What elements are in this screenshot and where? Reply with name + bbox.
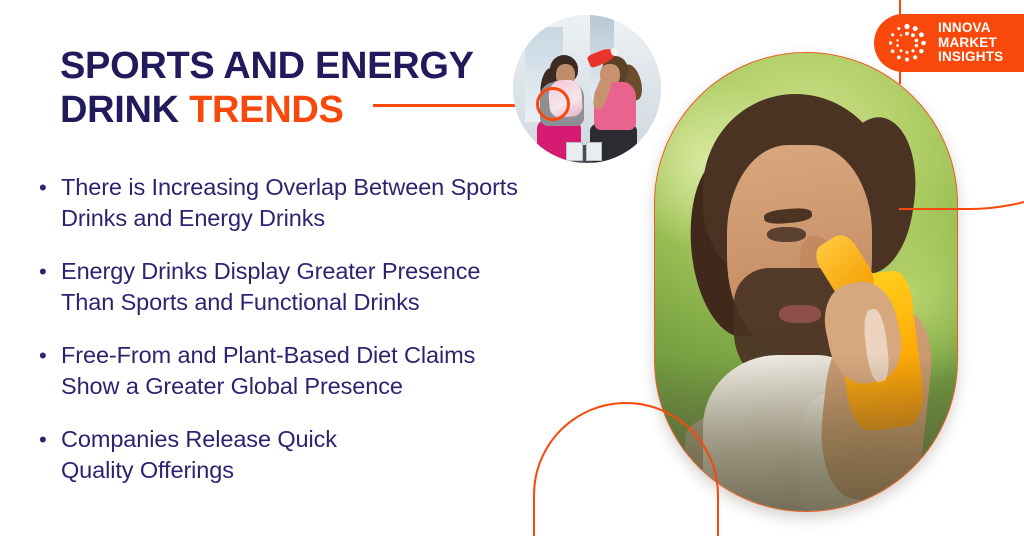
innova-dot-spiral-icon bbox=[885, 21, 929, 65]
photo-man-mouth bbox=[779, 305, 821, 323]
bullet-text-line: Than Sports and Functional Drinks bbox=[61, 287, 480, 318]
connector-highlight-ring-icon bbox=[536, 87, 570, 121]
innova-logo-text: INNOVA MARKET INSIGHTS bbox=[938, 21, 1003, 65]
bullet-text-line: There is Increasing Overlap Between Spor… bbox=[61, 172, 518, 203]
title-line-2-plain: DRINK bbox=[60, 89, 189, 131]
logo-line-3: INSIGHTS bbox=[938, 50, 1003, 65]
bullet-text-line: Show a Greater Global Presence bbox=[61, 371, 475, 402]
bullet-marker-icon: • bbox=[36, 172, 61, 203]
bullet-text-line: Drinks and Energy Drinks bbox=[61, 203, 518, 234]
bullet-text: Energy Drinks Display Greater Presence T… bbox=[61, 256, 480, 318]
logo-line-1: INNOVA bbox=[938, 21, 1003, 36]
photo-man-eye bbox=[767, 227, 806, 242]
slide-canvas: SPORTS AND ENERGY DRINK TRENDS • There i… bbox=[0, 0, 1024, 536]
photo-box-left bbox=[566, 142, 583, 160]
list-item: • Free-From and Plant-Based Diet Claims … bbox=[36, 340, 636, 402]
bullet-marker-icon: • bbox=[36, 256, 61, 287]
title-line-2: DRINK TRENDS bbox=[60, 88, 530, 132]
bullet-text-line: Energy Drinks Display Greater Presence bbox=[61, 256, 480, 287]
bullet-text-line: Companies Release Quick bbox=[61, 424, 337, 455]
logo-line-2: MARKET bbox=[938, 36, 1003, 51]
list-item: • Energy Drinks Display Greater Presence… bbox=[36, 256, 636, 318]
photo-women-gym bbox=[513, 15, 661, 163]
list-item: • There is Increasing Overlap Between Sp… bbox=[36, 172, 636, 234]
page-title: SPORTS AND ENERGY DRINK TRENDS bbox=[60, 44, 530, 132]
bullet-text-line: Quality Offerings bbox=[61, 455, 337, 486]
innova-logo[interactable]: INNOVA MARKET INSIGHTS bbox=[874, 14, 1024, 72]
photo-box-right bbox=[586, 142, 603, 160]
bullet-text: There is Increasing Overlap Between Spor… bbox=[61, 172, 518, 234]
bullet-text-line: Free-From and Plant-Based Diet Claims bbox=[61, 340, 475, 371]
bullet-text: Free-From and Plant-Based Diet Claims Sh… bbox=[61, 340, 475, 402]
bullet-text: Companies Release Quick Quality Offering… bbox=[61, 424, 337, 486]
bullet-marker-icon: • bbox=[36, 340, 61, 371]
title-accent-trends: TRENDS bbox=[189, 89, 343, 131]
title-line-1: SPORTS AND ENERGY bbox=[60, 44, 530, 88]
bullet-marker-icon: • bbox=[36, 424, 61, 455]
